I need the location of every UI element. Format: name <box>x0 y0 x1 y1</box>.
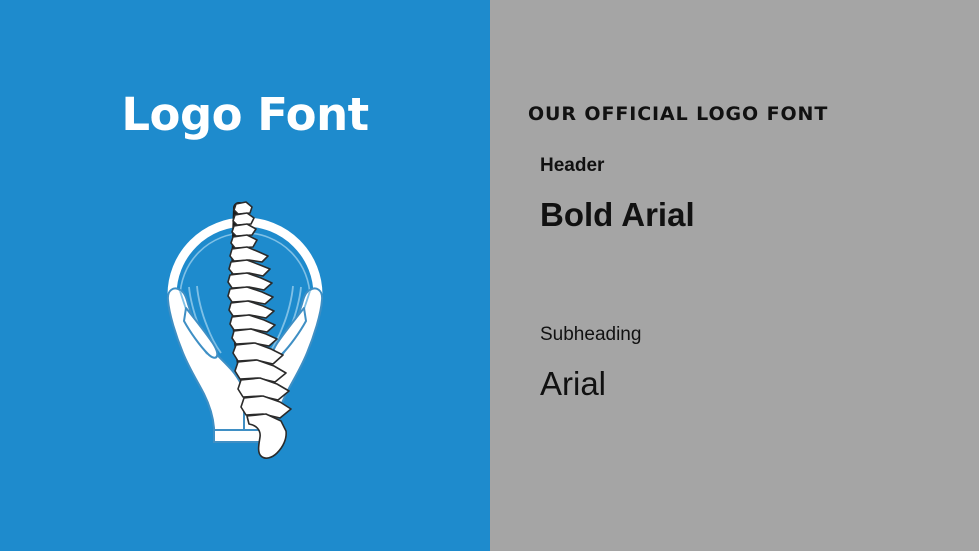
spec-label-header: Header <box>540 153 695 179</box>
spec-label-subheading: Subheading <box>540 322 641 348</box>
spine-in-hands-logo <box>150 190 340 462</box>
left-brand-panel: Logo Font <box>0 0 490 551</box>
spec-block-header: Header Bold Arial <box>540 153 695 237</box>
spec-block-subheading: Subheading Arial <box>540 322 641 406</box>
slide-canvas: Logo Font <box>0 0 979 551</box>
spec-sample-header: Bold Arial <box>540 193 695 237</box>
right-spec-panel <box>490 0 979 551</box>
eyebrow-label: OUR OFFICIAL LOGO FONT <box>528 101 828 127</box>
logo-wordmark: Logo Font <box>0 84 490 146</box>
spec-sample-subheading: Arial <box>540 362 641 406</box>
